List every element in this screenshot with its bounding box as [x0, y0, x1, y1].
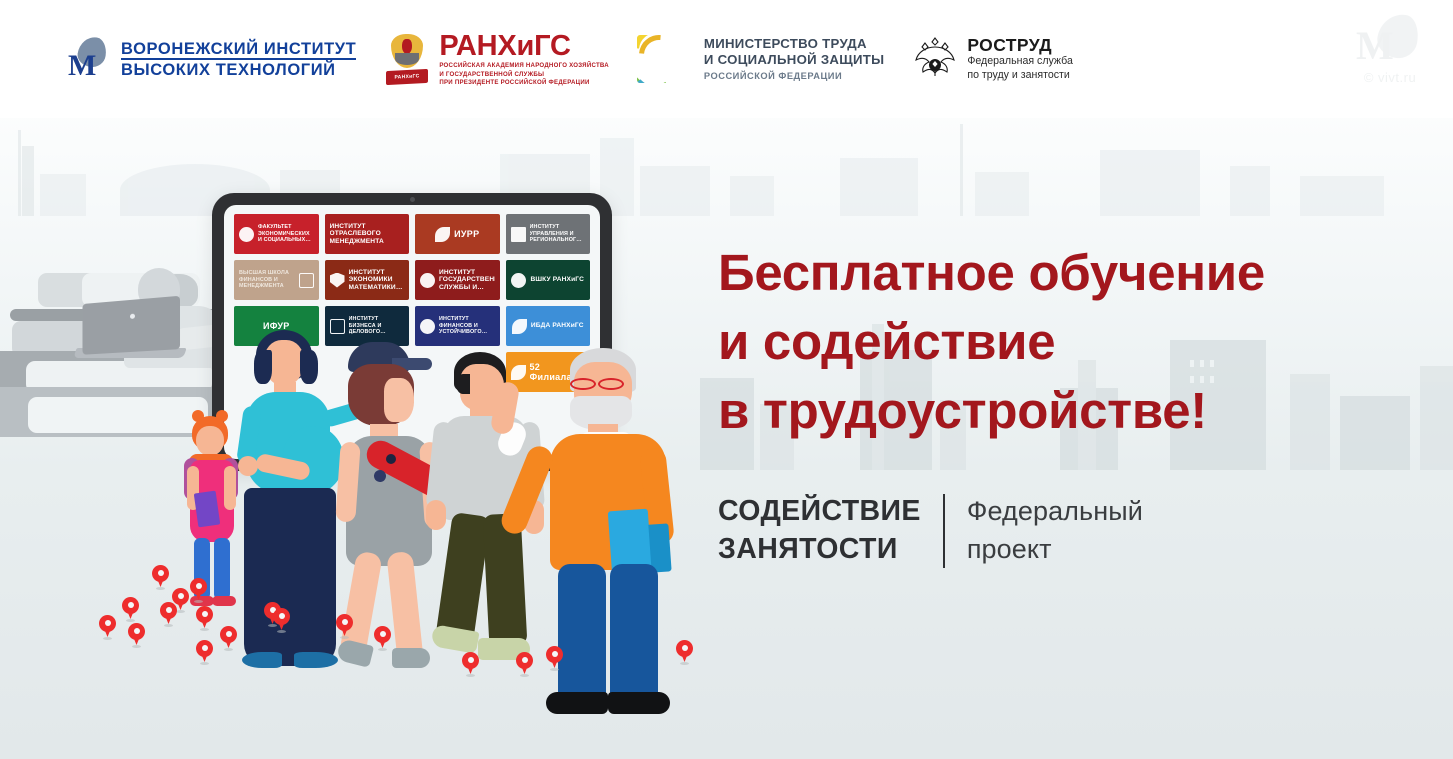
- ranepa-logo-text: РАНХиГС РОССИЙСКАЯ АКАДЕМИЯ НАРОДНОГО ХО…: [439, 31, 609, 87]
- vivt-line2: ВЫСОКИХ ТЕХНОЛОГИЙ: [121, 58, 356, 79]
- map-pin: [220, 626, 237, 650]
- project-name-line1: СОДЕЙСТВИЕ: [718, 492, 921, 530]
- tile-0[interactable]: ФАКУЛЬТЕТ ЭКОНОМИЧЕСКИХ И СОЦИАЛЬНЫХ НАУ…: [234, 214, 319, 254]
- map-pin: [128, 623, 145, 647]
- mintrud-line3: РОССИЙСКОЙ ФЕДЕРАЦИИ: [704, 70, 884, 83]
- logo-mintrud: МИНИСТЕРСТВО ТРУДА И СОЦИАЛЬНОЙ ЗАЩИТЫ Р…: [637, 35, 884, 83]
- tile-7[interactable]: ВШКУ РАНХиГС: [506, 260, 591, 300]
- map-pin: [516, 652, 533, 676]
- map-pin: [160, 602, 177, 626]
- vivt-logo-text: ВОРОНЕЖСКИЙ ИНСТИТУТ ВЫСОКИХ ТЕХНОЛОГИЙ: [121, 40, 356, 79]
- map-pin: [99, 615, 116, 639]
- headline-line-1: Бесплатное обучение: [718, 238, 1418, 307]
- headline: Бесплатное обучение и содействие в трудо…: [718, 238, 1418, 445]
- tile-4-icon: [299, 273, 314, 288]
- ranepa-crest-icon: РАНХиГС: [384, 32, 430, 86]
- tile-5-label: ИНСТИТУТ ЭКОНОМИКИ МАТЕМАТИКИ И ИНФОРМАЦ…: [349, 269, 405, 292]
- map-pin: [374, 626, 391, 650]
- tile-4[interactable]: ВЫСШАЯ ШКОЛА ФИНАНСОВ И МЕНЕДЖМЕНТА: [234, 260, 319, 300]
- ranepa-sub1: РОССИЙСКАЯ АКАДЕМИЯ НАРОДНОГО ХОЗЯЙСТВА: [439, 62, 609, 70]
- tile-3-icon: [511, 227, 526, 242]
- map-pin: [546, 646, 563, 670]
- tile-3[interactable]: ИНСТИТУТ УПРАВЛЕНИЯ И РЕГИОНАЛЬНОГО РАЗВ…: [506, 214, 591, 254]
- partner-logo-strip: M ВОРОНЕЖСКИЙ ИНСТИТУТ ВЫСОКИХ ТЕХНОЛОГИ…: [0, 0, 1453, 118]
- map-pin: [336, 614, 353, 638]
- tile-2[interactable]: ИУРР: [415, 214, 500, 254]
- map-pin: [196, 640, 213, 664]
- rostrud-logo-text: РОСТРУД Федеральная служба по труду и за…: [967, 36, 1073, 82]
- mintrud-logo-text: МИНИСТЕРСТВО ТРУДА И СОЦИАЛЬНОЙ ЗАЩИТЫ Р…: [704, 36, 884, 83]
- tile-2-label: ИУРР: [454, 229, 479, 239]
- rostrud-title: РОСТРУД: [967, 36, 1073, 55]
- map-pin: [462, 652, 479, 676]
- tile-5-icon: [330, 273, 345, 288]
- tile-1-label: ИНСТИТУТ ОТРАСЛЕВОГО МЕНЕДЖМЕНТА: [330, 223, 405, 246]
- map-pin: [273, 608, 290, 632]
- project-kind-line1: Федеральный: [967, 492, 1143, 530]
- poster-canvas: M ВОРОНЕЖСКИЙ ИНСТИТУТ ВЫСОКИХ ТЕХНОЛОГИ…: [0, 0, 1453, 759]
- project-kind: Федеральный проект: [967, 492, 1143, 568]
- map-pin: [190, 578, 207, 602]
- ranepa-ribbon-text: РАНХиГС: [386, 69, 428, 85]
- tablet-camera-icon: [410, 197, 415, 202]
- vivt-line1: ВОРОНЕЖСКИЙ ИНСТИТУТ: [121, 40, 356, 58]
- rostrud-line1: Федеральная служба: [967, 55, 1073, 69]
- project-kind-line2: проект: [967, 530, 1143, 568]
- tile-5[interactable]: ИНСТИТУТ ЭКОНОМИКИ МАТЕМАТИКИ И ИНФОРМАЦ…: [325, 260, 410, 300]
- mintrud-sun-waves-icon: [637, 35, 695, 83]
- map-pin: [676, 640, 693, 664]
- tile-4-label: ВЫСШАЯ ШКОЛА ФИНАНСОВ И МЕНЕДЖМЕНТА: [239, 270, 295, 289]
- rostrud-line2: по труду и занятости: [967, 69, 1073, 83]
- tile-6-label: ИНСТИТУТ ГОСУДАРСТВЕННОЙ СЛУЖБЫ И УПРАВЛ…: [439, 269, 495, 292]
- map-pin: [196, 606, 213, 630]
- headline-line-2: и содействие: [718, 307, 1418, 376]
- ranepa-title: РАНХиГС: [439, 31, 609, 61]
- tile-0-icon: [239, 227, 254, 242]
- project-divider: [943, 494, 945, 568]
- tile-1[interactable]: ИНСТИТУТ ОТРАСЛЕВОГО МЕНЕДЖМЕНТА: [325, 214, 410, 254]
- logo-vivt: M ВОРОНЕЖСКИЙ ИНСТИТУТ ВЫСОКИХ ТЕХНОЛОГИ…: [68, 37, 356, 81]
- tile-6[interactable]: ИНСТИТУТ ГОСУДАРСТВЕННОЙ СЛУЖБЫ И УПРАВЛ…: [415, 260, 500, 300]
- tile-0-label: ФАКУЛЬТЕТ ЭКОНОМИЧЕСКИХ И СОЦИАЛЬНЫХ НАУ…: [258, 224, 314, 243]
- tile-7-label: ВШКУ РАНХиГС: [530, 276, 584, 284]
- tile-3-label: ИНСТИТУТ УПРАВЛЕНИЯ И РЕГИОНАЛЬНОГО РАЗВ…: [530, 224, 586, 243]
- ranepa-sub3: ПРИ ПРЕЗИДЕНТЕ РОССИЙСКОЙ ФЕДЕРАЦИИ: [439, 79, 609, 87]
- logo-rostrud: РОСТРУД Федеральная служба по труду и за…: [912, 34, 1073, 84]
- project-name: СОДЕЙСТВИЕ ЗАНЯТОСТИ: [718, 492, 921, 568]
- map-pins-group: [0, 540, 740, 700]
- logo-ranepa: РАНХиГС РАНХиГС РОССИЙСКАЯ АКАДЕМИЯ НАРО…: [384, 31, 609, 87]
- mintrud-line2: И СОЦИАЛЬНОЙ ЗАЩИТЫ: [704, 52, 884, 68]
- tile-6-icon: [420, 273, 435, 288]
- map-pin: [152, 565, 169, 589]
- vivt-icon: M: [68, 37, 112, 81]
- headline-line-3: в трудоустройстве!: [718, 376, 1418, 445]
- map-pin: [122, 597, 139, 621]
- tile-2-icon: [435, 227, 450, 242]
- federal-project-block: СОДЕЙСТВИЕ ЗАНЯТОСТИ Федеральный проект: [718, 492, 1143, 568]
- rostrud-eagle-icon: [912, 34, 958, 84]
- tile-7-icon: [511, 273, 526, 288]
- project-name-line2: ЗАНЯТОСТИ: [718, 530, 921, 568]
- ranepa-sub2: И ГОСУДАРСТВЕННОЙ СЛУЖБЫ: [439, 71, 609, 79]
- mintrud-line1: МИНИСТЕРСТВО ТРУДА: [704, 36, 884, 52]
